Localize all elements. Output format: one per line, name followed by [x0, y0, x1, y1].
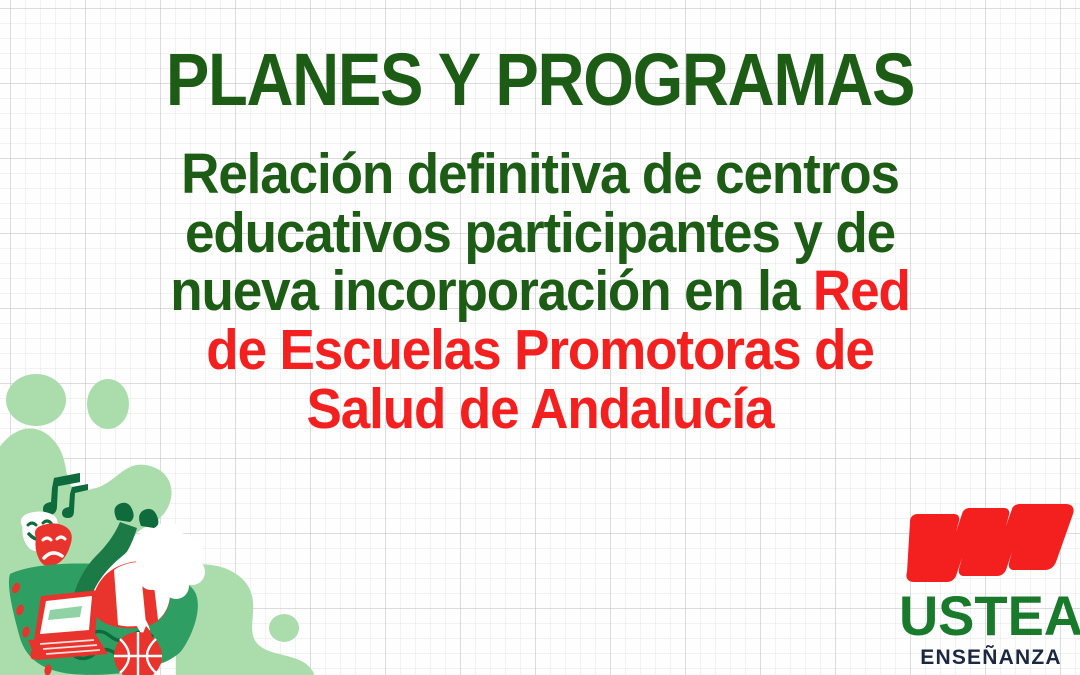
- ustea-tagline: ENSEÑANZA: [896, 646, 1080, 670]
- ustea-logo: USTEA ENSEÑANZA: [896, 500, 1080, 675]
- ustea-wordmark: USTEA: [899, 590, 1080, 642]
- poster-text-block: PLANES Y PROGRAMAS Relación definitiva d…: [0, 0, 1080, 439]
- headline-line-5: Salud de Andalucía: [38, 380, 1042, 439]
- lightning-bolt-icon: [900, 504, 1080, 592]
- poster-canvas: PLANES Y PROGRAMAS Relación definitiva d…: [0, 0, 1080, 675]
- headline: Relación definitiva de centros educativo…: [38, 115, 1042, 439]
- headline-line-1: Relación definitiva de centros: [38, 145, 1042, 204]
- page-title: PLANES Y PROGRAMAS: [65, 0, 1015, 115]
- headline-line-3: nueva incorporación en la Red: [38, 262, 1042, 321]
- headline-line-2: educativos participantes y de: [38, 204, 1042, 263]
- headline-line-3-green: nueva incorporación en la: [170, 259, 813, 323]
- headline-line-3-red: Red: [813, 259, 910, 323]
- headline-line-4: de Escuelas Promotoras de: [38, 321, 1042, 380]
